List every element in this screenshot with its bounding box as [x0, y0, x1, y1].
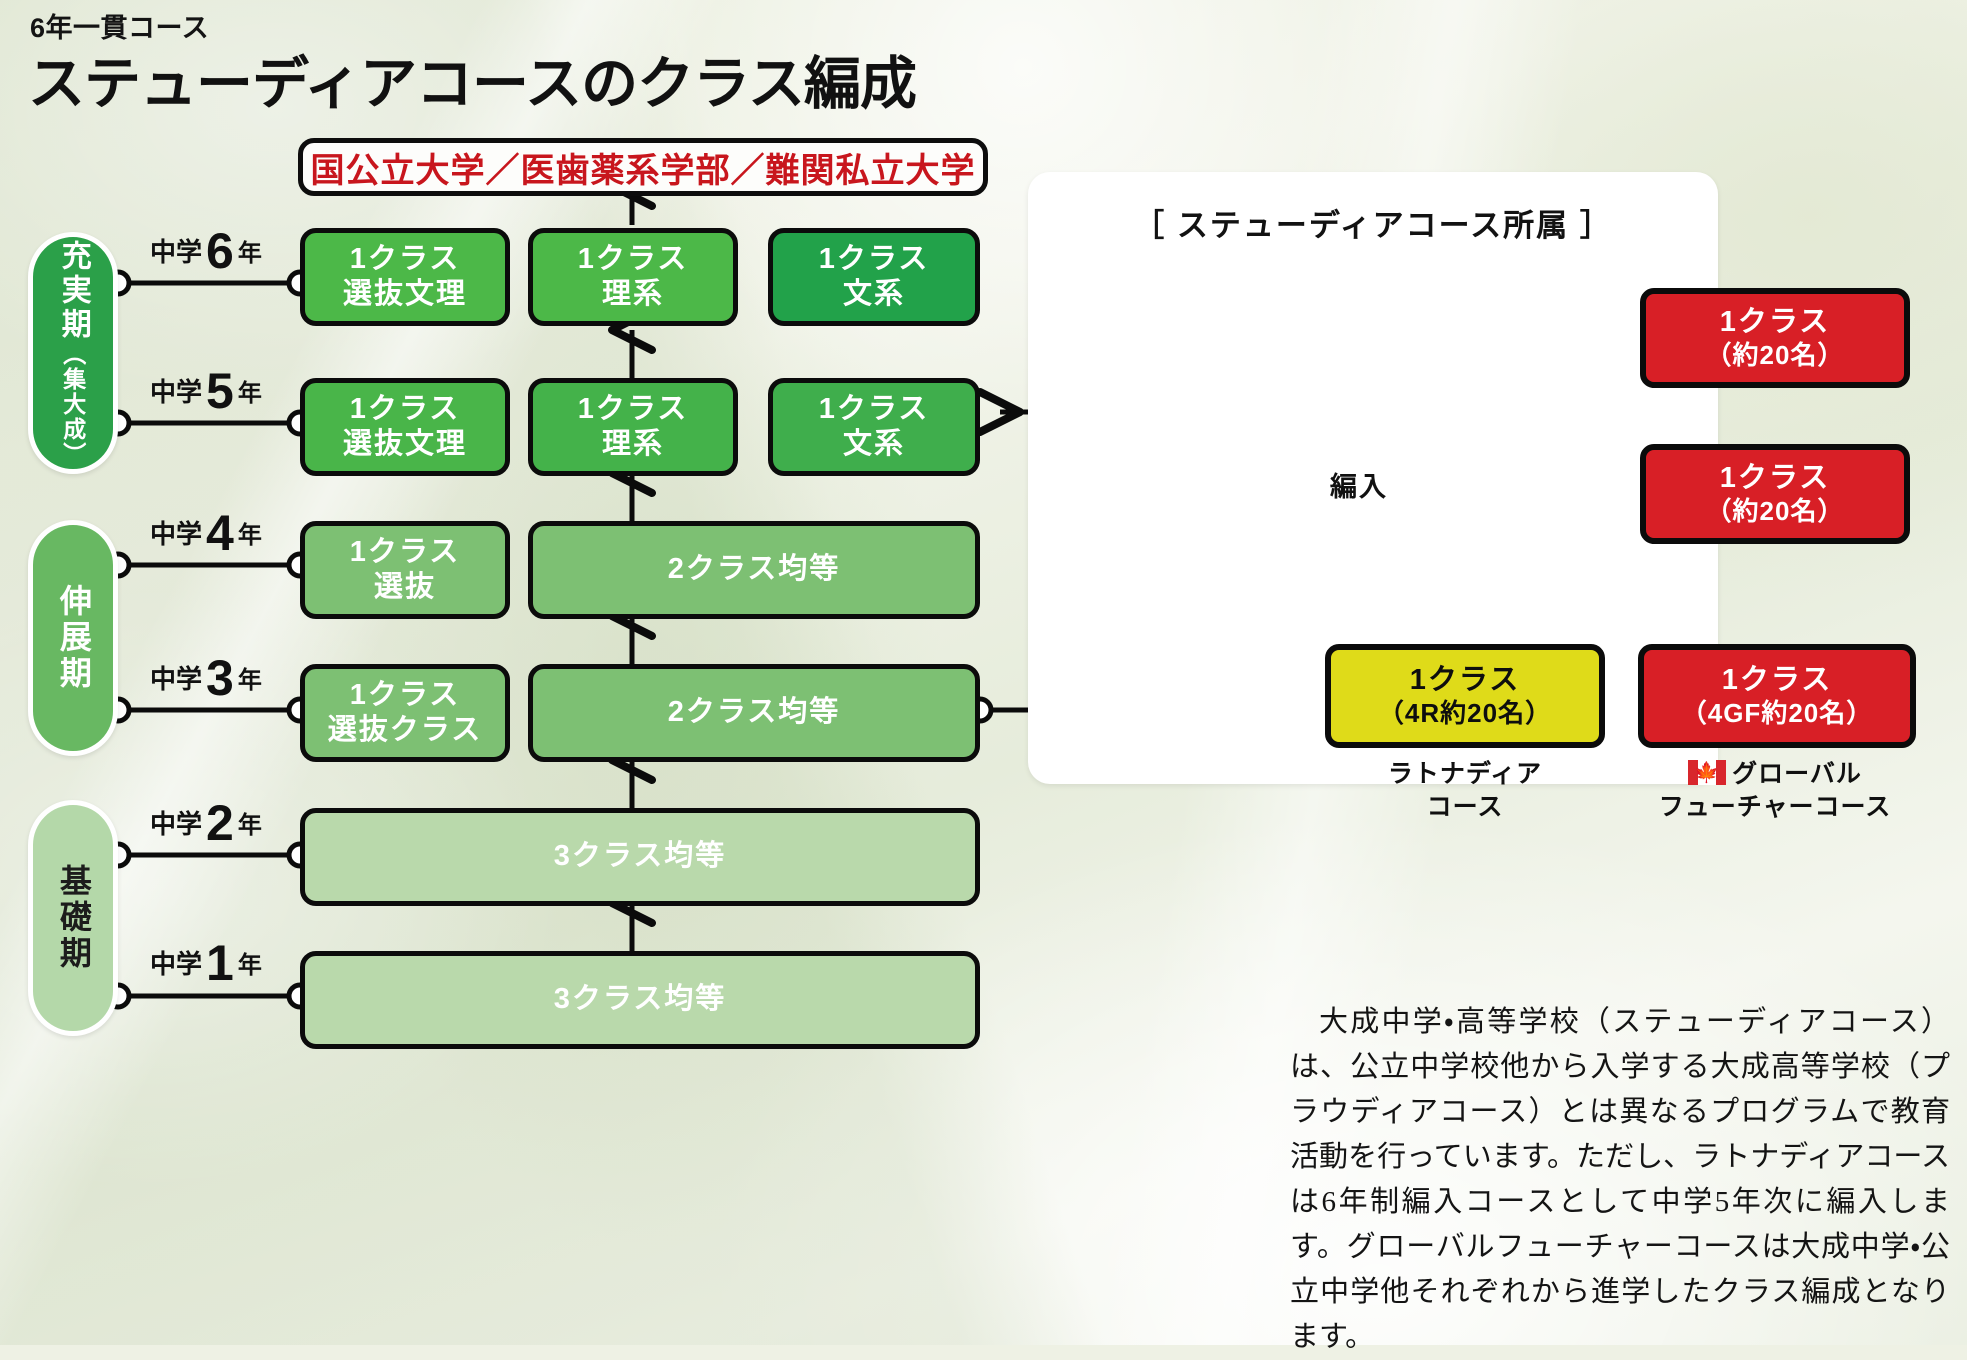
panel-box-ratnadia-mid: 1クラス （約20名） — [1640, 444, 1910, 544]
canada-flag-icon: 🍁 — [1688, 760, 1726, 785]
class-box-g6-senbatsu-bunri: 1クラス 選抜文理 — [300, 228, 510, 326]
phase-pill-shintenki: 伸展期 — [28, 520, 118, 756]
panel-box-ratnadia-base: 1クラス （4R約20名） — [1325, 644, 1605, 748]
class-box-g5-rikei: 1クラス 理系 — [528, 378, 738, 476]
class-box-g5-bunkei: 1クラス 文系 — [768, 378, 980, 476]
grade-label-6: 中学 6 年 — [150, 228, 262, 274]
class-box-g5-senbatsu-bunri: 1クラス 選抜文理 — [300, 378, 510, 476]
phase-label: 伸展期 — [54, 584, 92, 692]
phase-label: 基礎期 — [54, 864, 92, 972]
goal-banner-text: 国公立大学／医歯薬系学部／難関私立大学 — [311, 143, 976, 192]
page-title: ステューディアコースのクラス編成 — [28, 38, 916, 120]
course-label-global-future: 🍁 グローバル フューチャーコース — [1620, 758, 1930, 823]
phase-pill-jujitsuki: 充実期（集大成） — [28, 232, 118, 474]
transfer-label: 編入 — [1330, 465, 1388, 504]
class-box-g1-3class-kinto: 3クラス均等 — [300, 951, 980, 1049]
panel-box-ratnadia-top: 1クラス （約20名） — [1640, 288, 1910, 388]
class-box-g3-senbatsu-class: 1クラス 選抜クラス — [300, 664, 510, 762]
class-box-g6-rikei: 1クラス 理系 — [528, 228, 738, 326]
panel-box-global-future-base: 1クラス （4GF約20名） — [1638, 644, 1916, 748]
grade-label-3: 中学 3 年 — [150, 655, 262, 701]
phase-label: 充実期（集大成） — [55, 240, 90, 467]
grade-label-5: 中学 5 年 — [150, 368, 262, 414]
grade-label-1: 中学 1 年 — [150, 940, 262, 986]
class-box-g4-2class-kinto: 2クラス均等 — [528, 521, 980, 619]
goal-banner: 国公立大学／医歯薬系学部／難関私立大学 — [298, 138, 988, 196]
class-box-g6-bunkei: 1クラス 文系 — [768, 228, 980, 326]
course-label-ratnadia: ラトナディア コース — [1325, 758, 1605, 823]
class-box-g4-senbatsu: 1クラス 選抜 — [300, 521, 510, 619]
grade-label-4: 中学 4 年 — [150, 510, 262, 556]
footnote: 大成中学・高等学校（ステューディアコース）は、公立中学校他から入学する大成高等学… — [1290, 1000, 1950, 1360]
grade-label-2: 中学 2 年 — [150, 800, 262, 846]
class-box-g2-3class-kinto: 3クラス均等 — [300, 808, 980, 906]
class-box-g3-2class-kinto: 2クラス均等 — [528, 664, 980, 762]
panel-title: ［ ステューディアコース所属 ］ — [1028, 200, 1718, 245]
phase-pill-kisoki: 基礎期 — [28, 800, 118, 1036]
footnote-text: 大成中学・高等学校（ステューディアコース）は、公立中学校他から入学する大成高等学… — [1290, 1000, 1950, 1360]
